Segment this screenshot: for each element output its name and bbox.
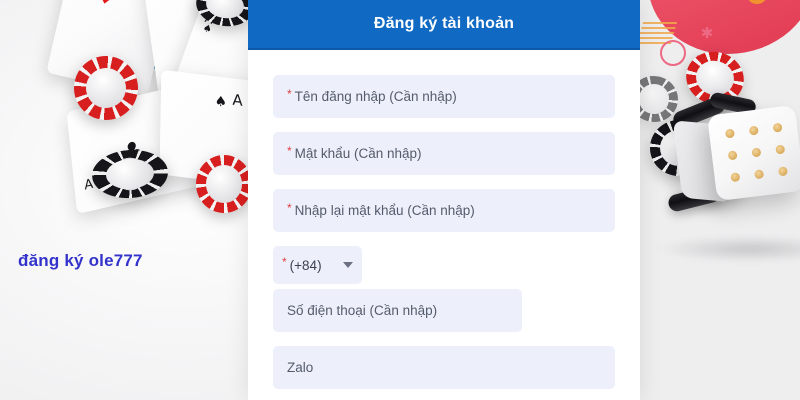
country-code-value: (+84) xyxy=(290,258,322,273)
orange-dot-decoration xyxy=(748,0,766,4)
confirm-password-input[interactable]: * Nhập lại mật khẩu (Cần nhập) xyxy=(273,189,615,232)
required-marker: * xyxy=(287,144,292,158)
poker-chip-edge-decoration xyxy=(709,91,757,115)
hatch-lines-decoration xyxy=(637,22,677,44)
phone-placeholder: Số điện thoại (Cần nhập) xyxy=(287,303,437,318)
red-poker-chip-decoration xyxy=(68,50,144,126)
drop-shadow-decoration xyxy=(660,236,800,262)
red-poker-chip-decoration xyxy=(689,143,752,206)
panel-header: Đăng ký tài khoản xyxy=(248,0,640,50)
password-input[interactable]: * Mật khẩu (Cần nhập) xyxy=(273,132,615,175)
zalo-input[interactable]: Zalo xyxy=(273,346,615,389)
cross-icon: ✚ xyxy=(693,55,705,67)
confirm-password-placeholder: Nhập lại mật khẩu (Cần nhập) xyxy=(295,203,475,218)
playing-card-decoration: ♥ xyxy=(46,0,182,96)
username-input[interactable]: * Tên đăng nhập (Cần nhập) xyxy=(273,75,615,118)
country-code-select[interactable]: * (+84) xyxy=(273,246,362,284)
registration-panel: Đăng ký tài khoản * Tên đăng nhập (Cần n… xyxy=(248,0,640,400)
page-title: Đăng ký tài khoản xyxy=(374,15,514,33)
password-placeholder: Mật khẩu (Cần nhập) xyxy=(295,146,422,161)
chevron-down-icon[interactable] xyxy=(343,262,353,268)
brand-label: đăng ký ole777 xyxy=(18,251,143,271)
red-poker-chip-decoration xyxy=(196,155,252,213)
username-placeholder: Tên đăng nhập (Cần nhập) xyxy=(295,89,457,104)
poker-chip-edge-decoration xyxy=(667,184,722,213)
required-marker: * xyxy=(287,87,292,101)
required-marker: * xyxy=(282,255,287,269)
registration-form: * Tên đăng nhập (Cần nhập) * Mật khẩu (C… xyxy=(248,50,640,389)
playing-card-decoration xyxy=(141,0,256,106)
white-dice-decoration xyxy=(707,105,800,201)
dice-side-face xyxy=(673,120,727,201)
poker-chip-edge-decoration xyxy=(671,95,727,131)
phone-prefix-row: * (+84) xyxy=(273,246,615,284)
phone-input[interactable]: Số điện thoại (Cần nhập) xyxy=(273,289,522,332)
ring-outline-decoration xyxy=(660,40,686,66)
zalo-placeholder: Zalo xyxy=(287,360,313,375)
black-poker-chip-decoration xyxy=(90,147,169,200)
required-marker: * xyxy=(287,201,292,215)
black-poker-chip-decoration xyxy=(650,120,708,176)
red-poker-chip-decoration xyxy=(680,45,750,111)
sparkle-icon: ✱ xyxy=(700,26,714,40)
playing-card-decoration: A ♣ xyxy=(67,78,224,214)
pink-blob-decoration xyxy=(648,0,800,54)
screenshot-stage: ♥ A ♠ A ♦ A ♣ ♠ A ♦ ✱ ✚ xyxy=(0,0,800,400)
